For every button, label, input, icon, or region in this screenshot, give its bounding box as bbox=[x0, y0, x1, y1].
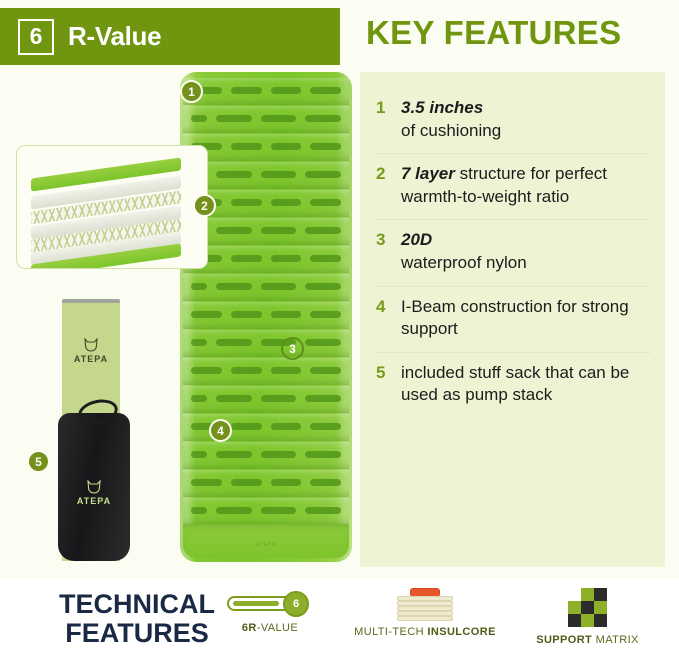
label-rest: -VALUE bbox=[257, 622, 298, 634]
feature-emphasis: 3.5 inches bbox=[401, 98, 483, 117]
label-bold: SUPPORT bbox=[536, 634, 592, 646]
feature-body: of cushioning bbox=[401, 121, 501, 140]
key-features-panel: 1 3.5 inches of cushioning 2 7 layer str… bbox=[360, 72, 665, 567]
label-rest: MULTI-TECH bbox=[354, 626, 427, 638]
feature-body: I-Beam construction for strong support bbox=[401, 297, 629, 339]
label-bold: 6R bbox=[242, 622, 257, 634]
feature-emphasis: 20D bbox=[401, 230, 432, 249]
tech-feature-label: SUPPORT MATRIX bbox=[505, 634, 670, 646]
feature-number: 4 bbox=[376, 296, 390, 341]
feature-body: waterproof nylon bbox=[401, 253, 527, 272]
mattress-image: ATEPA bbox=[180, 72, 352, 562]
tech-feature-label: 6R-VALUE bbox=[205, 622, 335, 634]
feature-text: 7 layer structure for perfect warmth-to-… bbox=[401, 163, 649, 208]
r-value-banner: 6 R-Value bbox=[0, 8, 340, 65]
tech-feature-insulcore: MULTI-TECH INSULCORE bbox=[340, 588, 510, 638]
product-infographic: 6 R-Value KEY FEATURES ATEPA bbox=[0, 0, 679, 664]
tech-feature-r-value: ···· 6 6R-VALUE bbox=[205, 588, 335, 634]
thermometer-icon: ···· 6 bbox=[227, 590, 313, 616]
brand-name-top: ATEPA bbox=[74, 354, 108, 364]
callout-badge-4: 4 bbox=[209, 419, 232, 442]
feature-item-4: 4 I-Beam construction for strong support bbox=[374, 286, 651, 352]
feature-text: 3.5 inches of cushioning bbox=[401, 97, 501, 142]
brand-logo-sack: ATEPA bbox=[58, 480, 130, 506]
brand-logo-top: ATEPA bbox=[62, 338, 120, 364]
callout-badge-3: 3 bbox=[281, 337, 304, 360]
feature-item-2: 2 7 layer structure for perfect warmth-t… bbox=[374, 153, 651, 219]
feature-number: 2 bbox=[376, 163, 390, 208]
feature-item-5: 5 included stuff sack that can be used a… bbox=[374, 352, 651, 418]
thermometer-value: 6 bbox=[283, 591, 309, 617]
feature-text: I-Beam construction for strong support bbox=[401, 296, 649, 341]
matrix-grid-icon bbox=[566, 588, 610, 628]
feature-number: 3 bbox=[376, 229, 390, 274]
fox-head-icon bbox=[86, 480, 102, 494]
thermometer-fill bbox=[233, 601, 279, 606]
layer-stack-icon bbox=[397, 588, 453, 620]
mattress-foot-end bbox=[183, 524, 349, 558]
feature-text: 20D waterproof nylon bbox=[401, 229, 527, 274]
technical-features-footer: TECHNICAL FEATURES ···· 6 6R-VALUE MULTI… bbox=[0, 578, 679, 664]
label-rest: MATRIX bbox=[592, 634, 639, 646]
callout-badge-5: 5 bbox=[27, 450, 50, 473]
key-features-heading: KEY FEATURES bbox=[366, 14, 621, 52]
tech-feature-support-matrix: SUPPORT MATRIX bbox=[505, 588, 670, 646]
feature-emphasis: 7 layer bbox=[401, 164, 455, 183]
brand-name-sack: ATEPA bbox=[77, 496, 111, 506]
mattress-brand-mark: ATEPA bbox=[180, 542, 352, 548]
callout-badge-2: 2 bbox=[193, 194, 216, 217]
r-value-number: 6 bbox=[18, 19, 54, 55]
callout-badge-1: 1 bbox=[180, 80, 203, 103]
label-bold: INSULCORE bbox=[427, 626, 495, 638]
feature-number: 5 bbox=[376, 362, 390, 407]
feature-item-3: 3 20D waterproof nylon bbox=[374, 219, 651, 285]
feature-item-1: 1 3.5 inches of cushioning bbox=[374, 88, 651, 153]
feature-text: included stuff sack that can be used as … bbox=[401, 362, 649, 407]
feature-body: included stuff sack that can be used as … bbox=[401, 363, 629, 405]
feature-number: 1 bbox=[376, 97, 390, 142]
r-value-title: R-Value bbox=[68, 21, 161, 52]
seven-layer-cutaway bbox=[16, 145, 208, 269]
fox-head-icon bbox=[83, 338, 99, 352]
tech-feature-label: MULTI-TECH INSULCORE bbox=[340, 626, 510, 638]
